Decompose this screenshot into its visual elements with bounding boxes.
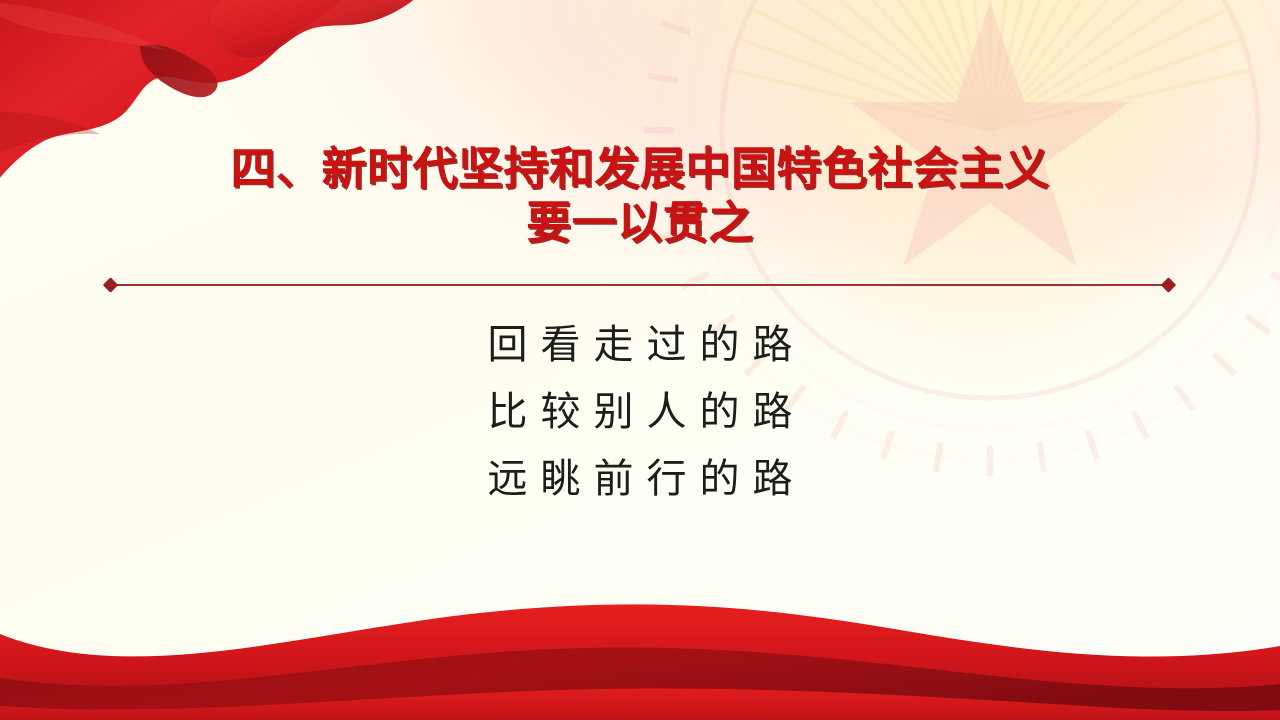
divider bbox=[110, 284, 1169, 286]
body-line-3: 远眺前行的路 bbox=[0, 446, 1280, 513]
body-line-1: 回看走过的路 bbox=[0, 312, 1280, 379]
presentation-slide: 四、新时代坚持和发展中国特色社会主义 要一以贯之 回看走过的路 比较别人的路 远… bbox=[0, 0, 1280, 720]
slide-body: 回看走过的路 比较别人的路 远眺前行的路 bbox=[0, 312, 1280, 513]
body-line-2: 比较别人的路 bbox=[0, 379, 1280, 446]
